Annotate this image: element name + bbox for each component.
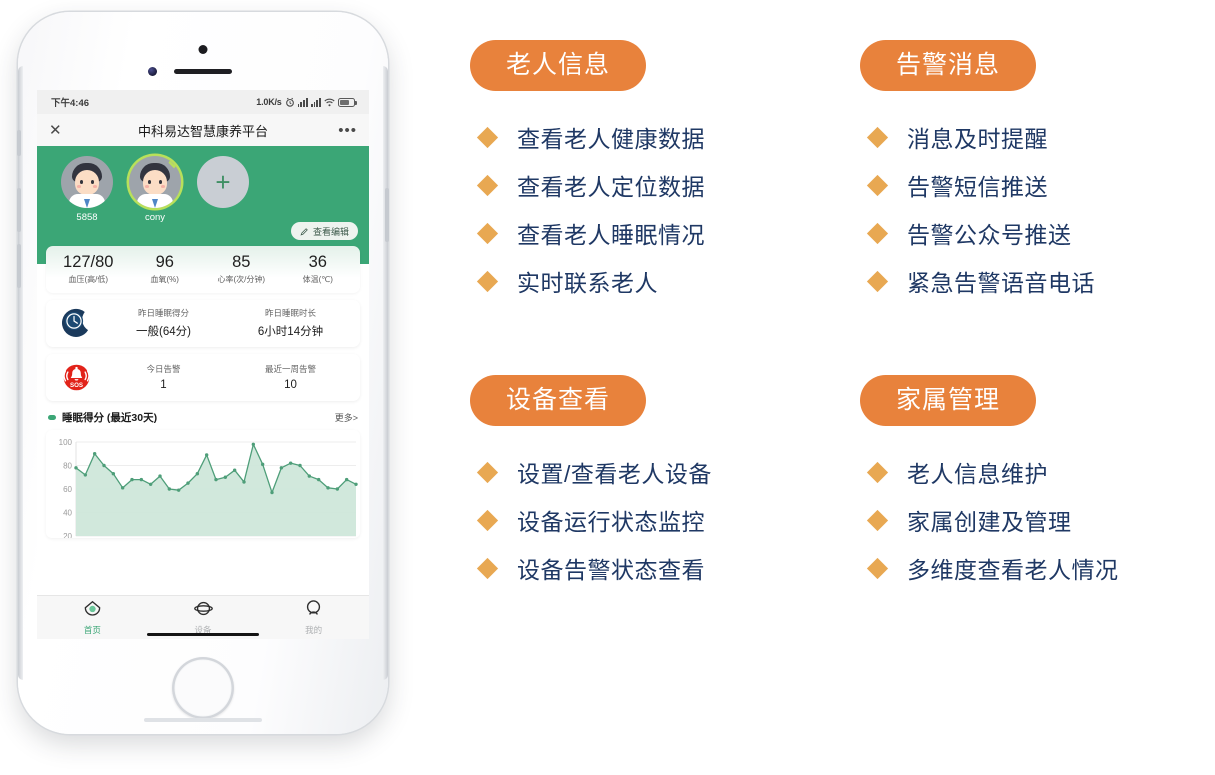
vital-value: 96 bbox=[127, 253, 204, 272]
diamond-bullet-icon bbox=[477, 509, 498, 530]
vital-label: 体温(℃) bbox=[280, 274, 357, 285]
svg-text:60: 60 bbox=[63, 485, 72, 494]
vital-value: 85 bbox=[203, 253, 280, 272]
svg-text:80: 80 bbox=[63, 462, 72, 471]
tab-home-label: 首页 bbox=[37, 624, 148, 636]
phone-chin-line bbox=[144, 718, 262, 722]
status-bar: 下午4:46 1.0K/s bbox=[37, 90, 369, 114]
diamond-bullet-icon bbox=[867, 557, 888, 578]
section-family-management: 家属管理 老人信息维护 家属创建及管理 多维度查看老人情况 bbox=[860, 375, 1215, 592]
chart-more-link[interactable]: 更多> bbox=[335, 411, 358, 424]
avatar-item[interactable]: cony bbox=[129, 156, 181, 223]
list-item-label: 实时联系老人 bbox=[517, 264, 658, 298]
check-icon bbox=[168, 156, 181, 170]
section-device-view: 设备查看 设置/查看老人设备 设备运行状态监控 设备告警状态查看 bbox=[470, 375, 840, 592]
list-item: 查看老人睡眠情况 bbox=[470, 209, 840, 257]
section-elder-info: 老人信息 查看老人健康数据 查看老人定位数据 查看老人睡眠情况 实时联系老人 bbox=[470, 40, 840, 305]
list-item: 老人信息维护 bbox=[860, 448, 1215, 496]
signal-icon bbox=[311, 98, 321, 107]
diamond-bullet-icon bbox=[477, 222, 498, 243]
phone-mockup: 下午4:46 1.0K/s ✕ 中科易达智慧康养平台 bbox=[18, 12, 388, 734]
sleep-score-value: 一般(64分) bbox=[100, 323, 227, 339]
person-icon bbox=[304, 599, 323, 618]
page-title: 中科易达智慧康养平台 bbox=[37, 121, 369, 140]
diamond-bullet-icon bbox=[477, 174, 498, 195]
phone-power-button[interactable] bbox=[385, 188, 389, 242]
page-root: 下午4:46 1.0K/s ✕ 中科易达智慧康养平台 bbox=[0, 0, 1215, 775]
list-item: 查看老人健康数据 bbox=[470, 113, 840, 161]
sleep-score-block: 昨日睡眠得分 一般(64分) bbox=[100, 307, 227, 339]
list-item-label: 紧急告警语音电话 bbox=[907, 264, 1095, 298]
diamond-bullet-icon bbox=[867, 270, 888, 291]
sos-bell-icon: SOS bbox=[52, 361, 100, 394]
list-item-label: 消息及时提醒 bbox=[907, 120, 1048, 154]
view-edit-label: 查看编辑 bbox=[313, 225, 349, 238]
list-item-label: 查看老人睡眠情况 bbox=[517, 216, 705, 250]
home-button[interactable] bbox=[172, 657, 234, 719]
week-alarm-block: 最近一周告警 10 bbox=[227, 363, 354, 391]
today-alarm-block: 今日告警 1 bbox=[100, 363, 227, 391]
svg-text:40: 40 bbox=[63, 509, 72, 518]
view-edit-button[interactable]: 查看编辑 bbox=[291, 222, 358, 240]
network-speed-label: 1.0K/s bbox=[256, 97, 281, 107]
svg-text:20: 20 bbox=[63, 532, 72, 538]
chart-canvas: 10080604020 bbox=[46, 430, 360, 538]
list-item-label: 设备运行状态监控 bbox=[517, 503, 705, 537]
list-item: 多维度查看老人情况 bbox=[860, 544, 1215, 592]
week-alarm-title: 最近一周告警 bbox=[227, 363, 354, 375]
avatar-list: 5858 cony bbox=[37, 156, 369, 223]
avatar[interactable] bbox=[129, 156, 181, 208]
list-item: 实时联系老人 bbox=[470, 257, 840, 305]
chart-title: 睡眠得分 (最近30天) bbox=[62, 410, 157, 425]
week-alarm-value: 10 bbox=[227, 379, 354, 391]
avatar-label: cony bbox=[129, 212, 181, 223]
sleep-duration-value: 6小时14分钟 bbox=[227, 323, 354, 339]
diamond-bullet-icon bbox=[867, 222, 888, 243]
sleep-score-title: 昨日睡眠得分 bbox=[100, 307, 227, 319]
diamond-bullet-icon bbox=[477, 270, 498, 291]
section-bullet-list: 老人信息维护 家属创建及管理 多维度查看老人情况 bbox=[860, 448, 1215, 592]
tab-profile-label: 我的 bbox=[258, 624, 369, 636]
vital-value: 127/80 bbox=[50, 253, 127, 272]
phone-edge-right bbox=[383, 66, 388, 680]
section-badge: 家属管理 bbox=[860, 375, 1036, 426]
vital-item: 127/80 血压(高/低) bbox=[50, 253, 127, 285]
diamond-bullet-icon bbox=[867, 461, 888, 482]
phone-volume-up-button[interactable] bbox=[17, 188, 21, 232]
list-item-label: 查看老人健康数据 bbox=[517, 120, 705, 154]
vital-label: 血压(高/低) bbox=[50, 274, 127, 285]
home-indicator bbox=[147, 633, 259, 637]
avatar-item[interactable]: 5858 bbox=[61, 156, 113, 223]
phone-silent-switch[interactable] bbox=[17, 130, 21, 156]
section-bullet-list: 设置/查看老人设备 设备运行状态监控 设备告警状态查看 bbox=[470, 448, 840, 592]
moon-clock-icon bbox=[52, 307, 100, 340]
close-icon[interactable]: ✕ bbox=[49, 123, 62, 138]
list-item-label: 老人信息维护 bbox=[907, 455, 1048, 489]
vital-label: 血氧(%) bbox=[127, 274, 204, 285]
section-badge: 老人信息 bbox=[470, 40, 646, 91]
proximity-sensor-icon bbox=[148, 67, 157, 76]
pencil-icon bbox=[300, 227, 309, 236]
app-navbar: ✕ 中科易达智慧康养平台 ••• bbox=[37, 114, 369, 146]
sleep-score-linechart: 10080604020 bbox=[50, 436, 360, 538]
section-bullet-list: 消息及时提醒 告警短信推送 告警公众号推送 紧急告警语音电话 bbox=[860, 113, 1215, 305]
section-bullet-list: 查看老人健康数据 查看老人定位数据 查看老人睡眠情况 实时联系老人 bbox=[470, 113, 840, 305]
sleep-duration-block: 昨日睡眠时长 6小时14分钟 bbox=[227, 307, 354, 339]
list-item: 家属创建及管理 bbox=[860, 496, 1215, 544]
vital-item: 85 心率(次/分钟) bbox=[203, 253, 280, 285]
today-alarm-value: 1 bbox=[100, 379, 227, 391]
signal-icon bbox=[298, 98, 308, 107]
list-item-label: 告警公众号推送 bbox=[907, 216, 1072, 250]
svg-text:SOS: SOS bbox=[69, 382, 82, 389]
section-badge: 设备查看 bbox=[470, 375, 646, 426]
tab-home[interactable]: 首页 bbox=[37, 599, 148, 636]
list-item: 告警公众号推送 bbox=[860, 209, 1215, 257]
wifi-icon bbox=[324, 98, 335, 107]
list-item-label: 告警短信推送 bbox=[907, 168, 1048, 202]
alarm-icon bbox=[285, 97, 295, 107]
more-options-icon[interactable]: ••• bbox=[338, 123, 357, 138]
list-item-label: 家属创建及管理 bbox=[907, 503, 1072, 537]
tab-profile[interactable]: 我的 bbox=[258, 599, 369, 636]
diamond-bullet-icon bbox=[867, 509, 888, 530]
vitals-card: 127/80 血压(高/低) 96 血氧(%) 85 心率(次/分钟) 36 体… bbox=[46, 246, 360, 293]
list-item: 告警短信推送 bbox=[860, 161, 1215, 209]
sleep-score-chart-block: 睡眠得分 (最近30天) 更多> 10080604020 bbox=[46, 410, 360, 538]
diamond-bullet-icon bbox=[477, 126, 498, 147]
phone-screen: 下午4:46 1.0K/s ✕ 中科易达智慧康养平台 bbox=[37, 90, 369, 639]
legend-dot-icon bbox=[48, 415, 56, 420]
chart-header: 睡眠得分 (最近30天) 更多> bbox=[46, 410, 360, 430]
feature-sections: 老人信息 查看老人健康数据 查看老人定位数据 查看老人睡眠情况 实时联系老人 bbox=[440, 0, 1215, 775]
diamond-bullet-icon bbox=[477, 461, 498, 482]
sleep-summary-card[interactable]: 昨日睡眠得分 一般(64分) 昨日睡眠时长 6小时14分钟 bbox=[46, 300, 360, 347]
svg-text:100: 100 bbox=[59, 438, 73, 447]
earpiece-speaker bbox=[174, 69, 232, 74]
alarm-summary-card[interactable]: SOS 今日告警 1 最近一周告警 10 bbox=[46, 354, 360, 401]
add-elder-button[interactable]: + bbox=[197, 156, 249, 208]
tab-device[interactable]: 设备 bbox=[148, 599, 259, 636]
front-camera-icon bbox=[199, 45, 208, 54]
list-item: 紧急告警语音电话 bbox=[860, 257, 1215, 305]
list-item: 消息及时提醒 bbox=[860, 113, 1215, 161]
vital-item: 36 体温(℃) bbox=[280, 253, 357, 285]
status-time: 下午4:46 bbox=[51, 95, 89, 109]
diamond-bullet-icon bbox=[477, 557, 498, 578]
list-item: 设置/查看老人设备 bbox=[470, 448, 840, 496]
sleep-duration-title: 昨日睡眠时长 bbox=[227, 307, 354, 319]
avatar[interactable] bbox=[61, 156, 113, 208]
device-icon bbox=[194, 599, 213, 618]
vital-value: 36 bbox=[280, 253, 357, 272]
list-item-label: 查看老人定位数据 bbox=[517, 168, 705, 202]
list-item: 设备运行状态监控 bbox=[470, 496, 840, 544]
list-item-label: 设备告警状态查看 bbox=[517, 551, 705, 585]
vital-item: 96 血氧(%) bbox=[127, 253, 204, 285]
list-item-label: 设置/查看老人设备 bbox=[517, 455, 712, 489]
phone-volume-down-button[interactable] bbox=[17, 244, 21, 288]
phone-edge-left bbox=[18, 66, 23, 680]
plus-icon[interactable]: + bbox=[197, 156, 249, 208]
today-alarm-title: 今日告警 bbox=[100, 363, 227, 375]
home-icon bbox=[83, 599, 102, 618]
list-item: 设备告警状态查看 bbox=[470, 544, 840, 592]
section-alarm-message: 告警消息 消息及时提醒 告警短信推送 告警公众号推送 紧急告警语音电话 bbox=[860, 40, 1215, 305]
section-badge: 告警消息 bbox=[860, 40, 1036, 91]
diamond-bullet-icon bbox=[867, 174, 888, 195]
list-item-label: 多维度查看老人情况 bbox=[907, 551, 1119, 585]
avatar-label: 5858 bbox=[61, 212, 113, 223]
diamond-bullet-icon bbox=[867, 126, 888, 147]
list-item: 查看老人定位数据 bbox=[470, 161, 840, 209]
vital-label: 心率(次/分钟) bbox=[203, 274, 280, 285]
battery-icon bbox=[338, 98, 355, 107]
status-icons: 1.0K/s bbox=[256, 97, 355, 107]
